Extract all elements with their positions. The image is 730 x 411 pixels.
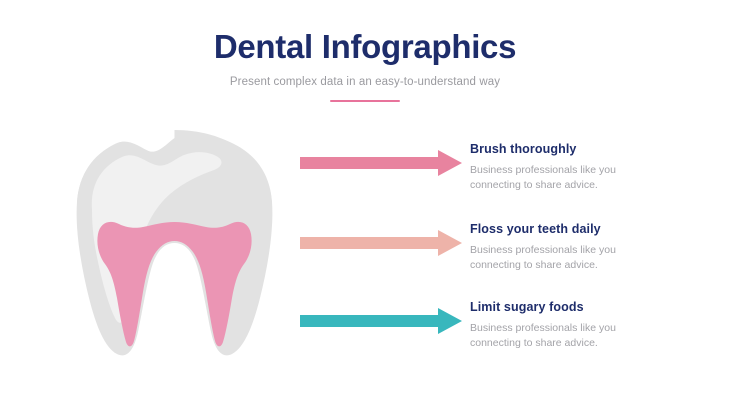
info-row-2: Floss your teeth daily Business professi… (300, 222, 720, 292)
info-row-2-title: Floss your teeth daily (470, 222, 720, 237)
arrow-salmon-icon (300, 230, 462, 256)
arrow-shape (300, 150, 462, 176)
info-row-1: Brush thoroughly Business professionals … (300, 142, 720, 212)
info-row-3-text: Limit sugary foods Business professional… (470, 300, 720, 351)
info-row-1-title: Brush thoroughly (470, 142, 720, 157)
arrow-teal-icon (300, 308, 462, 334)
info-row-1-description: Business professionals like you connecti… (470, 163, 635, 193)
info-row-2-description: Business professionals like you connecti… (470, 243, 635, 273)
slide-canvas: Dental Infographics Present complex data… (0, 0, 730, 411)
info-row-3-title: Limit sugary foods (470, 300, 720, 315)
info-row-3: Limit sugary foods Business professional… (300, 300, 720, 370)
content-rows: Brush thoroughly Business professionals … (0, 0, 730, 411)
info-row-1-text: Brush thoroughly Business professionals … (470, 142, 720, 193)
arrow-pink-icon (300, 150, 462, 176)
info-row-3-description: Business professionals like you connecti… (470, 321, 635, 351)
arrow-shape (300, 308, 462, 334)
arrow-shape (300, 230, 462, 256)
info-row-2-text: Floss your teeth daily Business professi… (470, 222, 720, 273)
